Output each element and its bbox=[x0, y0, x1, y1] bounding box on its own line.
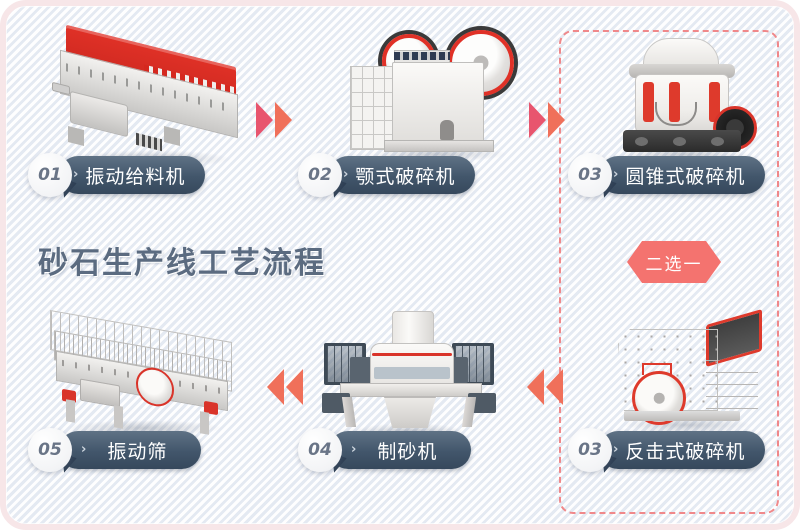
step-number-02: 02 bbox=[298, 153, 342, 197]
jaw-main-body bbox=[392, 62, 484, 150]
chevron-right-icon: › bbox=[343, 167, 348, 182]
impact-hub bbox=[654, 393, 665, 404]
step-number-03-cone: 03 bbox=[568, 153, 612, 197]
step-number-05: 05 bbox=[28, 428, 72, 472]
step-pill-body-03-cone[interactable]: › 圆锥式破碎机 bbox=[599, 156, 765, 194]
step-pill-body-04[interactable]: › 制砂机 bbox=[329, 431, 471, 469]
step-title-03-impact: 反击式破碎机 bbox=[625, 437, 745, 464]
arrow-vsi-to-screen bbox=[267, 369, 303, 405]
chevron-right-icon: › bbox=[613, 442, 618, 457]
flow-diagram-stage: 砂石生产线工艺流程 二选一 01 › 振动给料机 02 › 颚式破碎机 03 ›… bbox=[0, 0, 800, 530]
vsi-leg-left bbox=[342, 397, 356, 427]
step-label-02[interactable]: 02 › 颚式破碎机 bbox=[298, 156, 475, 194]
feeder-foot-right bbox=[164, 126, 180, 146]
arrow-triangle-b bbox=[546, 369, 563, 405]
arrow-triangle-b bbox=[275, 102, 292, 138]
cone-base bbox=[623, 130, 741, 152]
step-label-03-cone[interactable]: 03 › 圆锥式破碎机 bbox=[568, 156, 765, 194]
chevron-right-icon: › bbox=[351, 442, 356, 457]
arrow-triangle-a bbox=[529, 102, 546, 138]
impact-base bbox=[624, 411, 740, 421]
machine-impact-crusher bbox=[614, 311, 764, 431]
step-title-02: 颚式破碎机 bbox=[355, 162, 455, 189]
arrow-feeder-to-jaw bbox=[256, 102, 292, 138]
chevron-right-icon: › bbox=[81, 442, 86, 457]
cone-base-hole-1 bbox=[635, 137, 648, 146]
cone-base-hole-2 bbox=[673, 137, 686, 146]
jaw-frame-grid bbox=[350, 66, 394, 150]
arrow-triangle-a bbox=[256, 102, 273, 138]
chevron-right-icon: › bbox=[73, 167, 78, 182]
step-pill-body-02[interactable]: › 颚式破碎机 bbox=[329, 156, 475, 194]
vsi-red-stripe bbox=[372, 353, 452, 356]
step-pill-body-03-impact[interactable]: › 反击式破碎机 bbox=[599, 431, 765, 469]
step-title-01: 振动给料机 bbox=[85, 162, 185, 189]
step-title-03-cone: 圆锥式破碎机 bbox=[625, 162, 745, 189]
step-label-03-impact[interactable]: 03 › 反击式破碎机 bbox=[568, 431, 765, 469]
machine-vsi-sand-maker bbox=[314, 309, 504, 431]
arrow-triangle-b bbox=[286, 369, 303, 405]
step-number-01: 01 bbox=[28, 153, 72, 197]
vsi-deck bbox=[340, 383, 482, 397]
step-label-04[interactable]: 04 › 制砂机 bbox=[298, 431, 471, 469]
step-label-05[interactable]: 05 › 振动筛 bbox=[28, 431, 201, 469]
arrow-triangle-b bbox=[548, 102, 565, 138]
vsi-discharge-hopper bbox=[384, 397, 436, 428]
step-title-05: 振动筛 bbox=[107, 437, 167, 464]
vsi-leg-right bbox=[462, 397, 476, 427]
vsi-inspection-band bbox=[374, 367, 450, 379]
step-number-04: 04 bbox=[298, 428, 342, 472]
step-title-04: 制砂机 bbox=[377, 437, 437, 464]
feeder-discharge-chute bbox=[136, 133, 162, 151]
page-title: 砂石生产线工艺流程 bbox=[38, 238, 326, 282]
step-pill-body-05[interactable]: › 振动筛 bbox=[59, 431, 201, 469]
arrow-triangle-a bbox=[527, 369, 544, 405]
cone-base-hole-3 bbox=[711, 137, 724, 146]
two-choose-one-badge: 二选一 bbox=[627, 241, 721, 283]
arrow-impact-to-vsi bbox=[527, 369, 563, 405]
arrow-triangle-a bbox=[267, 369, 284, 405]
poster-frame: 砂石生产线工艺流程 二选一 01 › 振动给料机 02 › 颚式破碎机 03 ›… bbox=[0, 0, 800, 530]
screen-leg-1 bbox=[66, 399, 75, 423]
arrow-jaw-to-cone bbox=[529, 102, 565, 138]
feeder-foot-left bbox=[68, 126, 84, 146]
cone-hydraulic-cylinder-1 bbox=[643, 82, 654, 122]
machine-cone-crusher bbox=[609, 30, 759, 158]
step-label-01[interactable]: 01 › 振动给料机 bbox=[28, 156, 205, 194]
vsi-rotor-housing bbox=[370, 343, 454, 387]
jaw-inspection-port bbox=[440, 120, 454, 140]
machine-vibrating-feeder bbox=[44, 32, 254, 157]
jaw-motor-bar bbox=[394, 52, 450, 60]
machine-vibrating-screen bbox=[40, 316, 250, 431]
screen-leg-2 bbox=[114, 405, 123, 429]
step-pill-body-01[interactable]: › 振动给料机 bbox=[59, 156, 205, 194]
machine-jaw-crusher bbox=[348, 28, 518, 158]
jaw-base bbox=[384, 140, 494, 152]
chevron-right-icon: › bbox=[613, 167, 618, 182]
step-number-03-impact: 03 bbox=[568, 428, 612, 472]
